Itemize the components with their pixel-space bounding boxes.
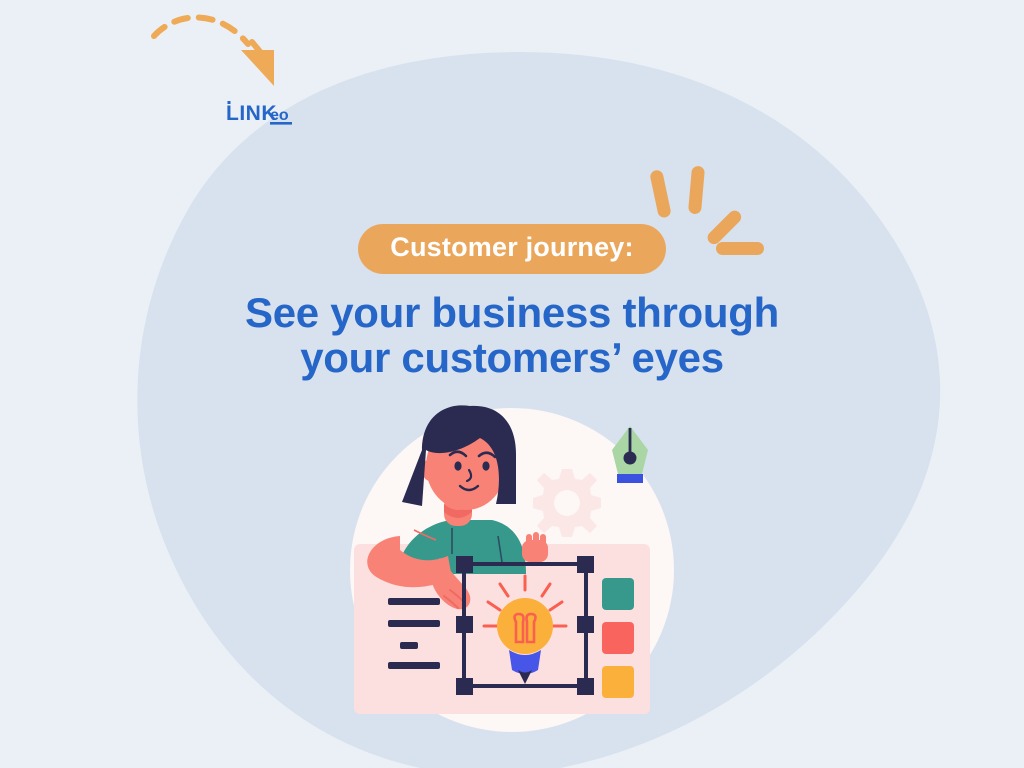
poster-canvas: LINK eo LINKeo Customer journey: See you… bbox=[0, 0, 1024, 768]
eyebrow-row: Customer journey: bbox=[358, 224, 665, 274]
text-line-3 bbox=[400, 642, 418, 649]
headline-line-1: See your business through bbox=[245, 289, 779, 336]
linkeo-logo[interactable]: LINK eo LINKeo bbox=[226, 98, 306, 130]
gear-icon bbox=[533, 469, 601, 537]
handle-top-left[interactable] bbox=[456, 556, 473, 573]
handle-mid-left[interactable] bbox=[456, 616, 473, 633]
handle-bottom-left[interactable] bbox=[456, 678, 473, 695]
text-line-4 bbox=[388, 662, 440, 669]
headline-block: Customer journey: See your business thro… bbox=[0, 224, 1024, 380]
handle-top-right[interactable] bbox=[577, 556, 594, 573]
text-line-1 bbox=[388, 598, 440, 605]
color-swatch-list bbox=[602, 578, 634, 698]
swatch-amber[interactable] bbox=[602, 666, 634, 698]
pen-nib-icon bbox=[612, 426, 648, 483]
text-line-2 bbox=[388, 620, 440, 627]
eyebrow-badge: Customer journey: bbox=[358, 224, 665, 274]
swatch-coral[interactable] bbox=[602, 622, 634, 654]
headline-line-2: your customers’ eyes bbox=[0, 335, 1024, 380]
page-title: See your business through your customers… bbox=[0, 290, 1024, 381]
hero-illustration bbox=[340, 398, 684, 742]
handle-mid-right[interactable] bbox=[577, 616, 594, 633]
swatch-teal[interactable] bbox=[602, 578, 634, 610]
logo-dot bbox=[228, 101, 231, 104]
logo-suffix: eo bbox=[270, 107, 289, 124]
handle-bottom-right[interactable] bbox=[577, 678, 594, 695]
dashed-curved-arrow bbox=[148, 2, 298, 92]
logo-underline bbox=[270, 122, 292, 125]
